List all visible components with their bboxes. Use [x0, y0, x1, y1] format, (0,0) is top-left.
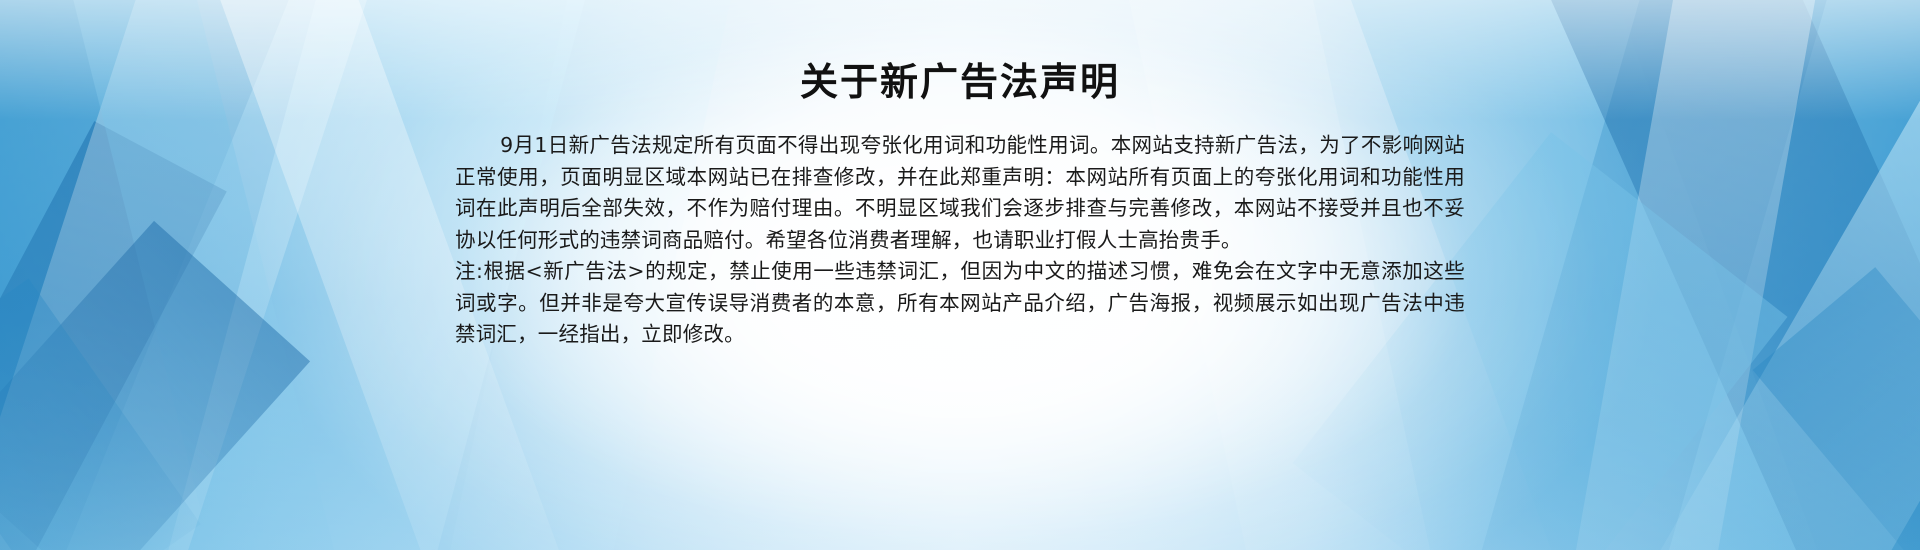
statement-paragraph-1: 9月1日新广告法规定所有页面不得出现夸张化用词和功能性用词。本网站支持新广告法，… [455, 130, 1465, 256]
statement-paragraph-2: 注:根据<新广告法>的规定，禁止使用一些违禁词汇，但因为中文的描述习惯，难免会在… [455, 256, 1465, 351]
page-title: 关于新广告法声明 [455, 60, 1465, 104]
banner-stage: 关于新广告法声明 9月1日新广告法规定所有页面不得出现夸张化用词和功能性用词。本… [0, 0, 1920, 550]
statement-content: 关于新广告法声明 9月1日新广告法规定所有页面不得出现夸张化用词和功能性用词。本… [455, 60, 1465, 351]
